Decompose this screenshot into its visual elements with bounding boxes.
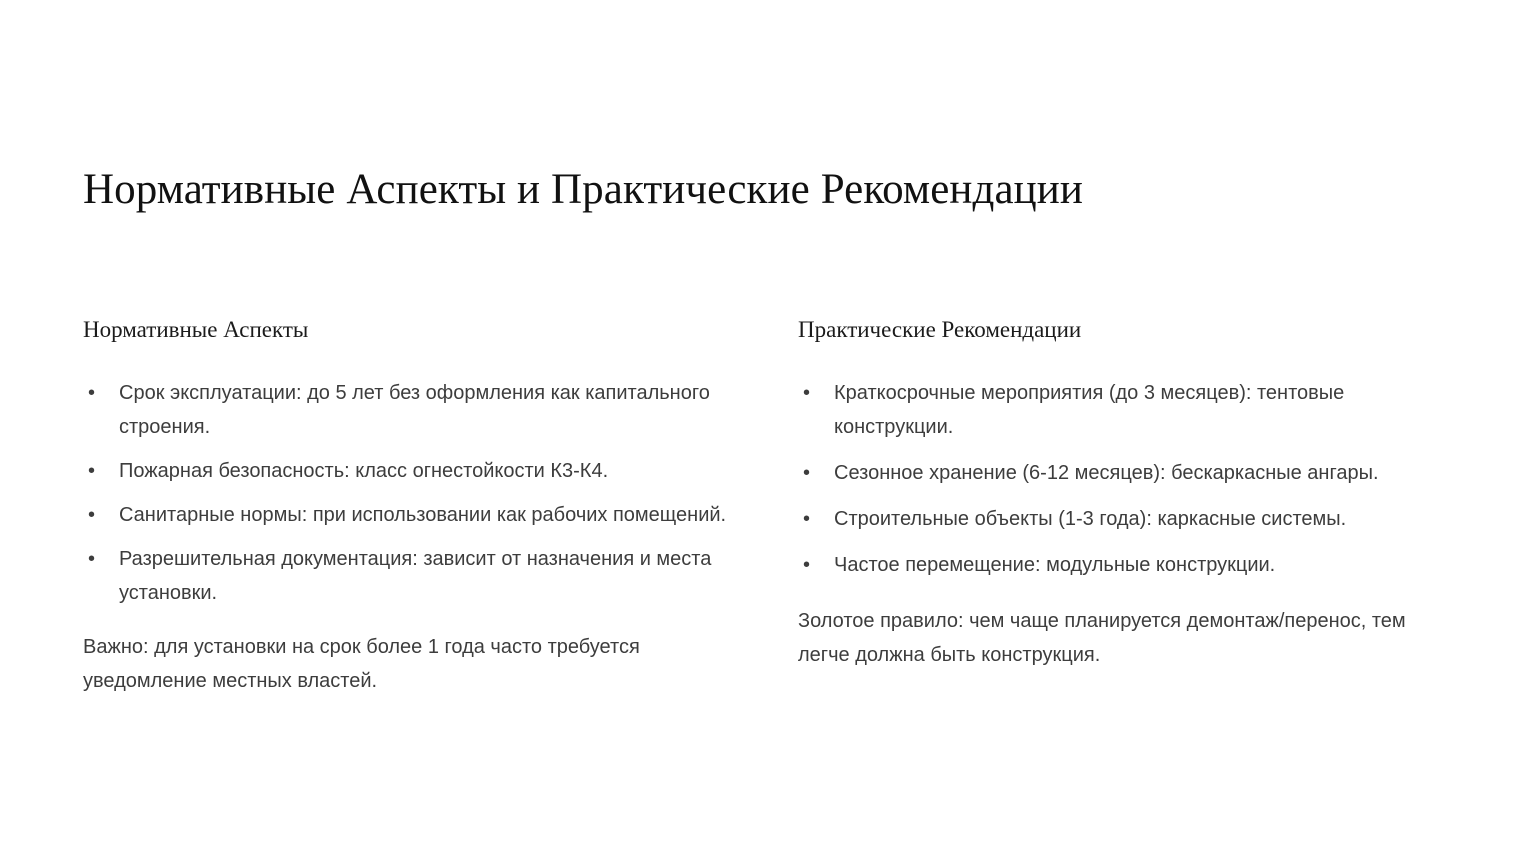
list-item: • Санитарные нормы: при использовании ка…	[83, 498, 743, 532]
list-item-text: Санитарные нормы: при использовании как …	[119, 504, 726, 526]
list-item: • Сезонное хранение (6-12 месяцев): беск…	[798, 456, 1453, 490]
bullet-point-icon: •	[803, 376, 817, 410]
column-practical-recommendations: Практические Рекомендации • Краткосрочны…	[798, 316, 1453, 672]
bullet-point-icon: •	[88, 376, 102, 410]
slide-root: Нормативные Аспекты и Практические Реком…	[0, 0, 1536, 864]
note-normative-aspects: Важно: для установки на срок более 1 год…	[83, 630, 743, 698]
list-item-text: Краткосрочные мероприятия (до 3 месяцев)…	[834, 382, 1344, 438]
content-columns: Нормативные Аспекты • Срок эксплуатации:…	[83, 316, 1453, 698]
bullet-point-icon: •	[803, 548, 817, 582]
list-item-text: Частое перемещение: модульные конструкци…	[834, 554, 1275, 576]
list-item-text: Сезонное хранение (6-12 месяцев): бескар…	[834, 462, 1379, 484]
bullet-point-icon: •	[88, 498, 102, 532]
slide-title: Нормативные Аспекты и Практические Реком…	[83, 165, 1453, 215]
list-item-text: Пожарная безопасность: класс огнестойкос…	[119, 460, 608, 482]
bullet-list-practical-recommendations: • Краткосрочные мероприятия (до 3 месяце…	[798, 376, 1453, 582]
bullet-point-icon: •	[88, 454, 102, 488]
bullet-point-icon: •	[803, 502, 817, 536]
column-normative-aspects: Нормативные Аспекты • Срок эксплуатации:…	[83, 316, 798, 698]
column-heading-normative-aspects: Нормативные Аспекты	[83, 316, 743, 345]
list-item: • Краткосрочные мероприятия (до 3 месяце…	[798, 376, 1453, 444]
list-item: • Срок эксплуатации: до 5 лет без оформл…	[83, 376, 743, 444]
list-item: • Пожарная безопасность: класс огнестойк…	[83, 454, 743, 488]
list-item: • Строительные объекты (1-3 года): карка…	[798, 502, 1453, 536]
note-practical-recommendations: Золотое правило: чем чаще планируется де…	[798, 604, 1453, 672]
column-heading-practical-recommendations: Практические Рекомендации	[798, 316, 1453, 345]
list-item: • Разрешительная документация: зависит о…	[83, 542, 743, 610]
list-item-text: Строительные объекты (1-3 года): каркасн…	[834, 508, 1346, 530]
list-item-text: Срок эксплуатации: до 5 лет без оформлен…	[119, 382, 710, 438]
bullet-list-normative-aspects: • Срок эксплуатации: до 5 лет без оформл…	[83, 376, 743, 610]
list-item: • Частое перемещение: модульные конструк…	[798, 548, 1453, 582]
bullet-point-icon: •	[88, 542, 102, 576]
bullet-point-icon: •	[803, 456, 817, 490]
list-item-text: Разрешительная документация: зависит от …	[119, 548, 711, 604]
